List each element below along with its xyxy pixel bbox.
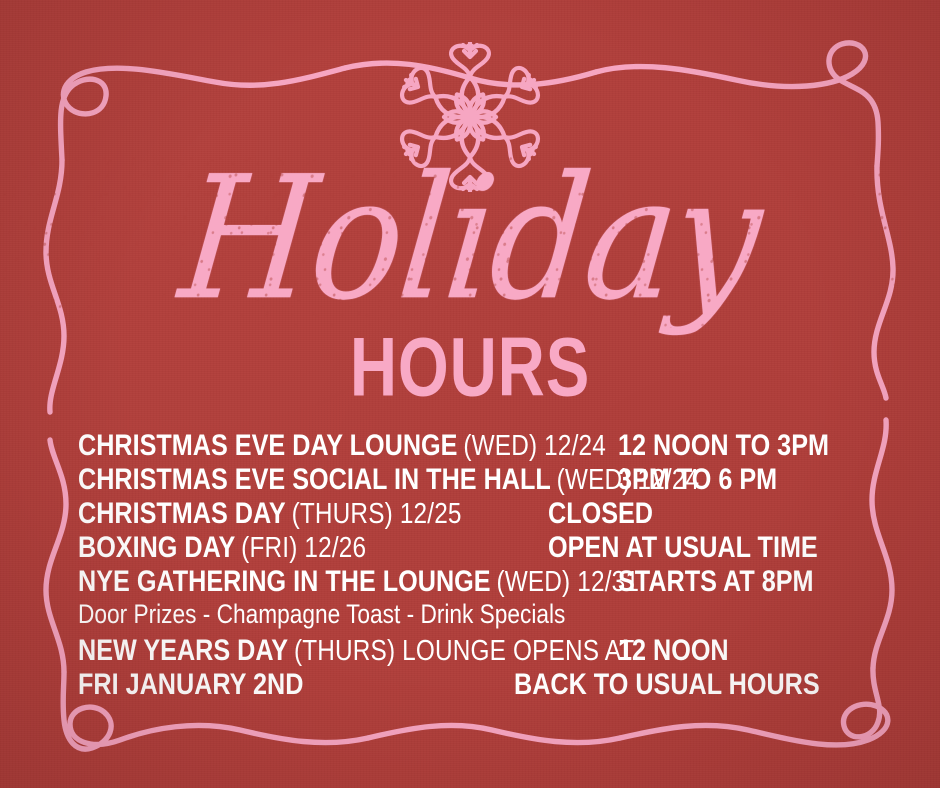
event-time: STARTS AT 8PM: [618, 565, 836, 599]
schedule-row: CHRISTMAS EVE DAY LOUNGE(WED) 12/24 12 N…: [78, 429, 878, 463]
event-cell: BOXING DAY(FRI) 12/26: [78, 531, 472, 565]
schedule-row: FRI JANUARY 2ND BACK TO USUAL HOURS: [78, 668, 878, 702]
event-detail: (THURS) LOUNGE OPENS AT: [294, 635, 634, 667]
event-name: FRI JANUARY 2ND: [78, 668, 303, 701]
event-cell: NEW YEARS DAY(THURS) LOUNGE OPENS AT: [78, 634, 532, 668]
schedule-row: NEW YEARS DAY(THURS) LOUNGE OPENS AT 12 …: [78, 634, 878, 668]
schedule-row: BOXING DAY(FRI) 12/26 OPEN AT USUAL TIME: [78, 531, 878, 565]
event-name: CHRISTMAS EVE DAY LOUNGE: [78, 429, 457, 462]
event-time: 3PM TO 6 PM: [618, 463, 836, 497]
schedule-row: CHRISTMAS EVE SOCIAL IN THE HALL(WED) 12…: [78, 463, 878, 497]
schedule-row: NYE GATHERING IN THE LOUNGE(WED) 12/31 S…: [78, 565, 878, 599]
event-name: NYE GATHERING IN THE LOUNGE: [78, 565, 491, 598]
event-subnote: Door Prizes - Champagne Toast - Drink Sp…: [78, 599, 532, 630]
event-cell: CHRISTMAS EVE DAY LOUNGE(WED) 12/24: [78, 429, 532, 463]
event-time: CLOSED: [548, 497, 826, 531]
event-name: CHRISTMAS EVE SOCIAL IN THE HALL: [78, 463, 551, 496]
border-left-lower: [46, 440, 66, 672]
event-cell: NYE GATHERING IN THE LOUNGE(WED) 12/31: [78, 565, 532, 599]
event-detail: (FRI) 12/26: [241, 532, 366, 564]
event-cell: FRI JANUARY 2ND: [78, 668, 444, 702]
holiday-hours-poster: Holiday HOURS CHRISTMAS EVE DAY LOUNGE(W…: [0, 0, 940, 788]
event-time: 12 NOON TO 3PM: [618, 429, 836, 463]
event-cell: CHRISTMAS EVE SOCIAL IN THE HALL(WED) 12…: [78, 463, 532, 497]
event-name: CHRISTMAS DAY: [78, 497, 286, 530]
event-time: 12 NOON: [618, 634, 836, 668]
schedule-row: CHRISTMAS DAY(THURS) 12/25 CLOSED: [78, 497, 878, 531]
schedule-list: CHRISTMAS EVE DAY LOUNGE(WED) 12/24 12 N…: [78, 429, 878, 702]
schedule-subnote-row: Door Prizes - Champagne Toast - Drink Sp…: [78, 599, 878, 634]
event-cell: CHRISTMAS DAY(THURS) 12/25: [78, 497, 472, 531]
page-title-script: Holiday: [0, 160, 940, 318]
event-name: NEW YEARS DAY: [78, 634, 288, 667]
event-time: OPEN AT USUAL TIME: [548, 531, 826, 565]
event-detail: (THURS) 12/25: [292, 498, 462, 530]
event-name: BOXING DAY: [78, 531, 235, 564]
page-title-hours: HOURS: [66, 326, 874, 410]
event-detail: (WED) 12/24: [463, 430, 606, 462]
event-time: BACK TO USUAL HOURS: [514, 668, 820, 702]
title-block: Holiday: [0, 168, 940, 309]
border-bottom-center-wave: [368, 725, 620, 742]
